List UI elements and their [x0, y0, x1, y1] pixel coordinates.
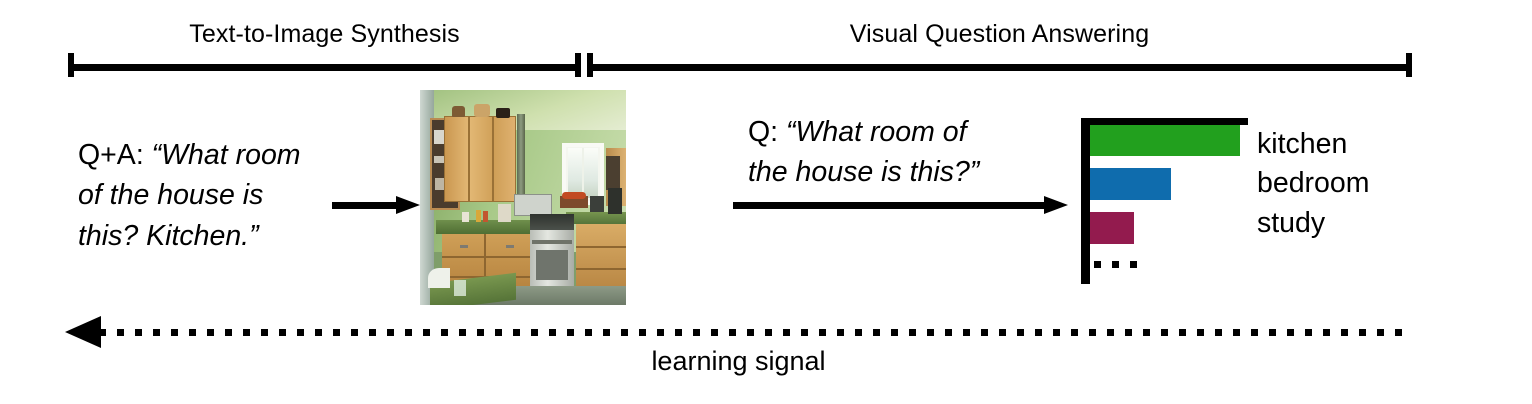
input-prompt-quote-line-2: of the house is: [78, 175, 301, 215]
arrow-shaft: [332, 202, 398, 209]
question-prompt-text: Q: “What room of the house is this?”: [748, 112, 979, 193]
photo-drawer-line: [576, 246, 626, 248]
chart-label-study: study: [1257, 204, 1369, 243]
stage-label-visual-question-answering: Visual Question Answering: [587, 22, 1412, 47]
photo-drawer-pull: [506, 245, 514, 248]
input-prompt-text: Q+A: “What room of the house is this? Ki…: [78, 135, 301, 256]
photo-lower-cabinets-right: [576, 224, 626, 288]
photo-counter-back: [436, 220, 532, 234]
arrow-shaft: [733, 202, 1046, 209]
photo-flue-pipe: [517, 114, 525, 202]
answer-distribution-chart: [1081, 118, 1257, 284]
chart-category-labels: kitchen bedroom study: [1257, 125, 1369, 243]
photo-shelf-item: [434, 130, 444, 144]
photo-drawer-line: [576, 268, 626, 270]
photo-basket: [474, 104, 490, 117]
arrow-head: [396, 196, 420, 214]
photo-right-shelf-dark: [606, 156, 620, 190]
bracket-cap-right: [575, 53, 581, 77]
photo-upper-cabinets: [444, 116, 516, 202]
chart-bar-kitchen: [1090, 125, 1240, 156]
input-prompt-quote-line-3: this? Kitchen.”: [78, 216, 301, 256]
photo-pottery: [452, 106, 465, 117]
learning-signal-arrow: [65, 324, 1412, 342]
arrow-head-left: [65, 316, 101, 348]
photo-canister: [498, 204, 511, 222]
photo-window-mullion: [582, 148, 584, 198]
input-prompt-prefix: Q+A:: [78, 139, 144, 171]
stage-label-text-to-image-synthesis: Text-to-Image Synthesis: [68, 22, 581, 47]
chart-top-rule: [1081, 118, 1248, 125]
chart-truncation-ellipsis: [1094, 261, 1137, 268]
chart-y-axis: [1081, 118, 1090, 284]
photo-drawer-line: [442, 256, 534, 258]
photo-bag: [496, 108, 510, 118]
bracket-rule: [68, 64, 581, 71]
input-prompt-quote-line-1: “What room: [152, 139, 301, 171]
bracket-rule: [587, 64, 1412, 71]
chart-label-kitchen: kitchen: [1257, 125, 1369, 164]
question-prompt-quote-line-1: “What room of: [786, 116, 967, 148]
chart-label-bedroom: bedroom: [1257, 164, 1369, 203]
question-prompt-line-1: Q: “What room of: [748, 112, 979, 152]
arrow-question-to-answer: [733, 196, 1068, 214]
bracket-visual-question-answering: [587, 53, 1412, 77]
input-prompt-line-1: Q+A: “What room: [78, 135, 301, 175]
photo-bottles: [483, 211, 488, 222]
figure-canvas: Text-to-Image Synthesis Visual Question …: [0, 0, 1532, 404]
photo-cabinet-seam: [492, 116, 494, 202]
photo-stove-top: [530, 214, 574, 230]
photo-drawer-pull: [460, 245, 468, 248]
photo-toaster: [590, 196, 604, 212]
question-prompt-prefix: Q:: [748, 116, 778, 148]
learning-signal-label: learning signal: [65, 348, 1412, 375]
photo-fruit: [562, 192, 586, 199]
photo-oven-window: [536, 250, 568, 280]
photo-shelf-item: [435, 178, 444, 190]
photo-jar: [462, 212, 469, 222]
photo-cabinet-seam: [468, 116, 470, 202]
photo-oven-handle: [532, 240, 572, 244]
bracket-text-to-image-synthesis: [68, 53, 581, 77]
chart-bar-study: [1090, 212, 1134, 244]
bracket-cap-right: [1406, 53, 1412, 77]
arrow-head: [1044, 196, 1068, 214]
photo-foreground-glassware: [454, 280, 466, 296]
generated-kitchen-photo: [420, 90, 626, 305]
ellipsis-dot: [1094, 261, 1101, 268]
photo-sink-basin: [428, 268, 450, 288]
ellipsis-dot: [1130, 261, 1137, 268]
question-prompt-quote-line-2: the house is this?”: [748, 152, 979, 192]
chart-bar-bedroom: [1090, 168, 1171, 200]
photo-bottles: [476, 210, 481, 222]
ellipsis-dot: [1112, 261, 1119, 268]
photo-microwave: [514, 194, 552, 216]
photo-coffee-maker: [608, 188, 622, 214]
dotted-shaft: [99, 329, 1412, 336]
arrow-prompt-to-image: [332, 196, 420, 214]
